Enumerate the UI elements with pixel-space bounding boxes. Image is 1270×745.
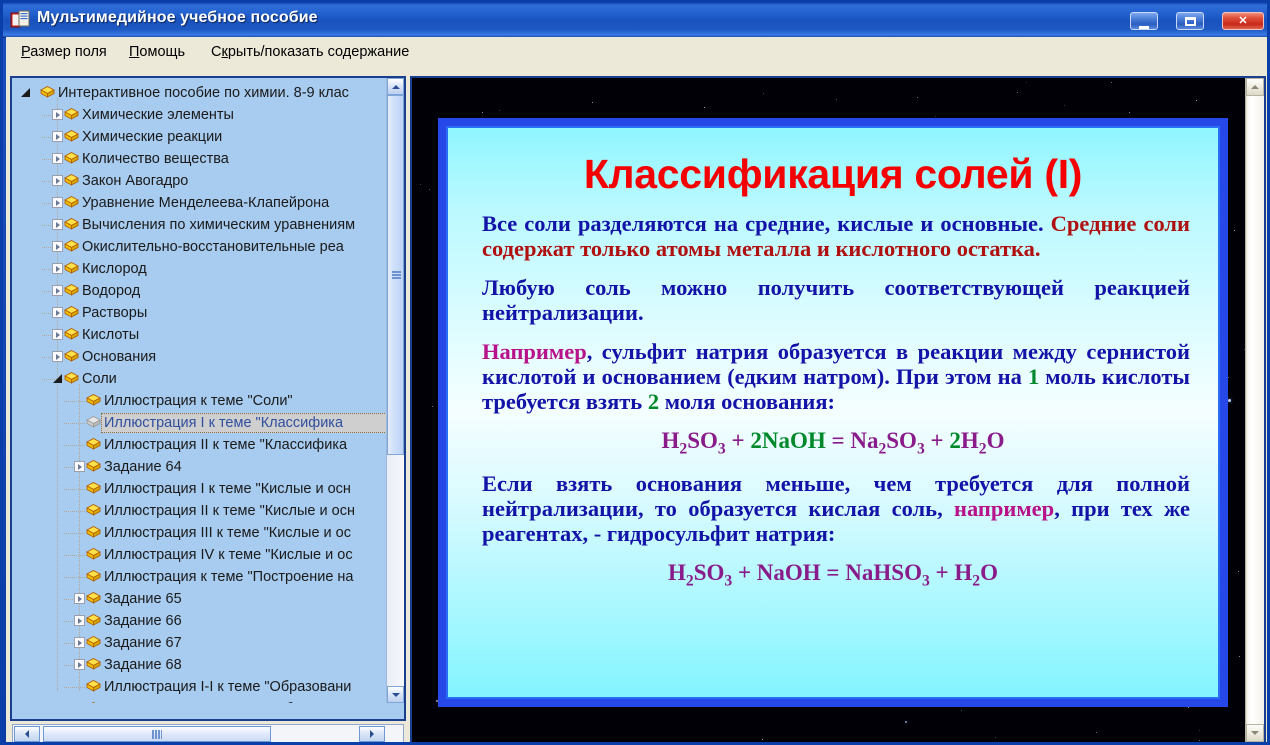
book-icon (64, 262, 79, 275)
tree-item-label: Кислород (82, 260, 147, 278)
book-icon (64, 372, 79, 385)
tree-item[interactable]: Иллюстрация IV к теме "Кислые и ос (12, 544, 391, 566)
tree-horizontal-scroll-thumb[interactable] (43, 726, 271, 742)
slide-vertical-scroll-track[interactable] (1246, 96, 1264, 724)
tree-item[interactable]: Химические реакции (12, 126, 391, 148)
star (1026, 82, 1027, 83)
star (961, 710, 962, 711)
application-window: Мультимедийное учебное пособие ✕ Размер … (0, 0, 1270, 745)
star (1199, 730, 1200, 731)
book-icon (86, 592, 101, 605)
tree-guide-line (64, 555, 86, 556)
text-run: 2 (750, 428, 762, 453)
tree-guide-line (64, 489, 86, 490)
tree-item-label: Закон Авогадро (82, 172, 188, 190)
tree-item-label: Иллюстрация к теме "Соли" (104, 392, 293, 410)
tree-view[interactable]: Интерактивное пособие по химии. 8-9 клас… (12, 78, 391, 703)
star (1228, 377, 1229, 378)
book-icon (64, 284, 79, 297)
tree-item-label: Количество вещества (82, 150, 229, 168)
tree-item-label: Иллюстрация I к теме "Классифика (104, 414, 343, 432)
book-icon (64, 108, 79, 121)
star (482, 112, 483, 113)
tree-item-label: Задание 65 (104, 590, 182, 608)
text-run: + H (930, 560, 973, 585)
text-run: + NaOH = NaHSO (732, 560, 922, 585)
tree-item[interactable]: Задание 67 (12, 632, 391, 654)
tree-expand-icon[interactable] (52, 263, 63, 274)
book-icon (64, 152, 79, 165)
tree-item-label: Соли (82, 370, 117, 388)
tree-scroll-down-button[interactable] (387, 686, 404, 703)
text-run: H (668, 560, 686, 585)
text-run: 2 (949, 428, 961, 453)
text-run: SO (886, 428, 917, 453)
star (429, 189, 430, 190)
tree-expand-icon[interactable] (52, 307, 63, 318)
tree-item[interactable]: Задание 66 (12, 610, 391, 632)
tree-item-label: Иллюстрация III к теме "Кислые и ос (104, 524, 351, 542)
menu-item-help[interactable]: Помощь (124, 42, 190, 62)
tree-item-label: Задание 64 (104, 458, 182, 476)
equation-partial-neutralization: H2SO3 + NaOH = NaHSO3 + H2O (468, 560, 1198, 591)
star (1188, 707, 1189, 708)
tree-guide-line (64, 445, 86, 446)
tree-vertical-scroll-thumb[interactable] (387, 95, 404, 455)
tree-expand-icon[interactable] (52, 219, 63, 230)
tree-guide-line (64, 687, 86, 688)
slide-viewer-panel: Классификация солей (I) Все соли разделя… (410, 76, 1266, 744)
tree-item-label: Иллюстрация IV к теме "Кислые и ос (104, 546, 353, 564)
tree-expand-icon[interactable] (52, 329, 63, 340)
close-button[interactable]: ✕ (1222, 12, 1264, 30)
text-run: O (980, 560, 998, 585)
book-app-icon (10, 10, 30, 30)
text-run: 3 (718, 441, 726, 458)
star (1199, 740, 1200, 741)
tree-item-label: Задание 66 (104, 612, 182, 630)
tree-item-label: Иллюстрация к теме "Построение на (104, 568, 354, 586)
text-run: например (954, 496, 1054, 521)
tree-item-label: Растворы (82, 304, 147, 322)
tree-item[interactable]: Растворы (12, 302, 391, 324)
tree-guide-line (64, 511, 86, 512)
star (1238, 571, 1239, 572)
text-run: SO (687, 428, 718, 453)
book-icon (86, 680, 101, 693)
star (1017, 92, 1018, 93)
book-icon (64, 328, 79, 341)
tree-item-label: Химические реакции (82, 128, 222, 146)
star (1196, 100, 1197, 101)
tree-item[interactable]: Кислоты (12, 324, 391, 346)
book-icon (86, 394, 101, 407)
book-icon (86, 658, 101, 671)
star (762, 739, 763, 740)
tree-item[interactable]: Химические элементы (12, 104, 391, 126)
window-title: Мультимедийное учебное пособие (37, 9, 318, 27)
book-icon (64, 240, 79, 253)
book-icon (86, 526, 101, 539)
tree-vertical-scrollbar[interactable] (386, 78, 404, 703)
book-icon (86, 702, 101, 703)
tree-item[interactable]: Интерактивное пособие по химии. 8-9 клас (12, 82, 391, 104)
tree-item[interactable]: Иллюстрация II к теме "Кислые и осн (12, 500, 391, 522)
text-run: SO (694, 560, 725, 585)
paragraph-neutralization: Любую соль можно получить соответствующе… (468, 275, 1198, 325)
tree-item-label: Иллюстрация II к теме "Кислые и осн (104, 502, 355, 520)
paragraph-example: Например, сульфит натрия образуется в ре… (468, 339, 1198, 414)
book-icon (64, 306, 79, 319)
book-icon (86, 614, 101, 627)
tree-expand-icon[interactable] (52, 109, 63, 120)
tree-scroll-up-button[interactable] (387, 78, 404, 95)
tree-expand-icon[interactable] (52, 153, 63, 164)
open-book-icon (86, 416, 101, 429)
text-run: Например (482, 339, 587, 364)
tree-item[interactable]: Закон Авогадро (12, 170, 391, 192)
text-run: NaOH (762, 428, 826, 453)
tree-item[interactable]: Иллюстрация I-II к теме "Образовани (12, 698, 391, 703)
contents-tree-panel: Интерактивное пособие по химии. 8-9 клас… (10, 76, 406, 721)
tree-item-selected[interactable]: Иллюстрация I к теме "Классифика (12, 412, 391, 434)
star (592, 102, 593, 103)
tree-expand-icon[interactable] (52, 241, 63, 252)
star (995, 737, 996, 738)
text-run: моля основания: (659, 389, 835, 414)
star (704, 107, 705, 108)
minimize-icon (1131, 13, 1157, 32)
tree-item[interactable]: Кислород (12, 258, 391, 280)
book-icon (64, 174, 79, 187)
tree-item-label: Задание 68 (104, 656, 182, 674)
text-run: Na (850, 428, 878, 453)
tree-horizontal-scrollbar[interactable] (12, 724, 404, 744)
star (1129, 112, 1130, 113)
tree-item-label: Задание 67 (104, 634, 182, 652)
slide-card: Классификация солей (I) Все соли разделя… (438, 118, 1228, 707)
text-run: 2 (972, 572, 980, 589)
book-icon (86, 504, 101, 517)
text-run: 1 (1028, 364, 1039, 389)
tree-item[interactable]: Иллюстрация к теме "Соли" (12, 390, 391, 412)
tree-item[interactable]: Иллюстрация к теме "Построение на (12, 566, 391, 588)
equation-full-neutralization: H2SO3 + 2NaOH = Na2SO3 + 2H2O (468, 428, 1198, 459)
slide-scroll-up-button[interactable] (1246, 78, 1264, 96)
tree-item-label: Кислоты (82, 326, 139, 344)
text-run: H (662, 428, 680, 453)
tree-expand-icon[interactable] (74, 461, 85, 472)
tree-item-label: Иллюстрация I к теме "Кислые и осн (104, 480, 351, 498)
tree-item-label: Окислительно-восстановительные реа (82, 238, 344, 256)
book-icon (86, 548, 101, 561)
tree-item[interactable]: Задание 65 (12, 588, 391, 610)
close-icon: ✕ (1223, 13, 1263, 29)
star (432, 406, 433, 407)
tree-guide-line (64, 423, 86, 424)
slide-vertical-scrollbar[interactable] (1245, 78, 1264, 742)
star (763, 93, 764, 94)
menu-item-toggle-contents[interactable]: Скрыть/показать содержание (206, 42, 414, 62)
tree-item[interactable]: Водород (12, 280, 391, 302)
slide-content: Классификация солей (I) Все соли разделя… (446, 126, 1220, 699)
tree-item[interactable]: Окислительно-восстановительные реа (12, 236, 391, 258)
tree-expand-icon[interactable] (74, 615, 85, 626)
star (905, 721, 907, 723)
slide-scroll-down-button[interactable] (1246, 724, 1264, 742)
tree-item-label: Уравнение Менделеева-Клапейрона (82, 194, 329, 212)
tree-expand-icon[interactable] (52, 175, 63, 186)
star (836, 99, 837, 100)
tree-item[interactable]: Вычисления по химическим уравнениям (12, 214, 391, 236)
minimize-button[interactable] (1130, 12, 1158, 30)
tree-item[interactable]: Иллюстрация I к теме "Кислые и осн (12, 478, 391, 500)
tree-scroll-left-button[interactable] (14, 726, 40, 742)
tree-item-label: Химические элементы (82, 106, 234, 124)
tree-collapse-icon[interactable] (52, 373, 63, 384)
tree-item-label: Основания (82, 348, 156, 366)
menu-bar: Размер поля Помощь Скрыть/показать содер… (6, 37, 1267, 67)
tree-guide-line (64, 401, 86, 402)
text-run: 2 (648, 389, 659, 414)
tree-item[interactable]: Задание 64 (12, 456, 391, 478)
book-icon (86, 438, 101, 451)
tree-item-label: Иллюстрация I-I к теме "Образовани (104, 678, 351, 696)
tree-item-label: Иллюстрация II к теме "Классифика (104, 436, 347, 454)
text-run: 2 (686, 572, 694, 589)
text-run: H (961, 428, 979, 453)
slide-title: Классификация солей (I) (468, 152, 1198, 197)
book-icon (40, 86, 55, 99)
star (1228, 399, 1231, 402)
tree-item-label: Иллюстрация I-II к теме "Образовани (104, 700, 355, 703)
tree-item[interactable]: Иллюстрация III к теме "Кислые и ос (12, 522, 391, 544)
paragraph-acid-salt: Если взять основания меньше, чем требует… (468, 471, 1198, 546)
tree-expand-icon[interactable] (52, 285, 63, 296)
star (1064, 105, 1065, 106)
text-run: 3 (917, 441, 925, 458)
star (1239, 656, 1240, 657)
tree-expand-icon[interactable] (52, 197, 63, 208)
tree-item[interactable]: Иллюстрация I-I к теме "Образовани (12, 676, 391, 698)
star (1111, 82, 1112, 83)
book-icon (86, 570, 101, 583)
tree-expand-icon[interactable] (52, 351, 63, 362)
text-run: 2 (979, 441, 987, 458)
tree-item[interactable]: Уравнение Менделеева-Клапейрона (12, 192, 391, 214)
tree-item[interactable]: Задание 68 (12, 654, 391, 676)
text-run: Все соли разделяются на средние, кислые … (482, 211, 1051, 236)
tree-item-label: Вычисления по химическим уравнениям (82, 216, 355, 234)
tree-scroll-right-button[interactable] (359, 726, 385, 742)
book-icon (64, 130, 79, 143)
tree-expand-icon[interactable] (74, 593, 85, 604)
text-run: + (925, 428, 950, 453)
menu-item-field-size[interactable]: Размер поля (16, 42, 112, 62)
book-icon (64, 218, 79, 231)
tree-item-label: Интерактивное пособие по химии. 8-9 клас (58, 84, 349, 102)
text-run: + (726, 428, 751, 453)
maximize-icon (1177, 13, 1203, 29)
tree-item[interactable]: Соли (12, 368, 391, 390)
book-icon (64, 196, 79, 209)
text-run: 3 (922, 572, 930, 589)
title-bar: Мультимедийное учебное пособие ✕ (3, 3, 1270, 38)
paragraph-definition: Все соли разделяются на средние, кислые … (468, 211, 1198, 261)
tree-item[interactable]: Иллюстрация II к теме "Классифика (12, 434, 391, 456)
text-run: = (826, 428, 851, 453)
tree-expand-icon[interactable] (74, 637, 85, 648)
text-run: O (987, 428, 1005, 453)
book-icon (86, 460, 101, 473)
client-area: Интерактивное пособие по химии. 8-9 клас… (6, 66, 1270, 745)
tree-item[interactable]: Основания (12, 346, 391, 368)
tree-item[interactable]: Количество вещества (12, 148, 391, 170)
tree-expand-icon[interactable] (74, 659, 85, 670)
star (499, 110, 500, 111)
tree-guide-line (64, 533, 86, 534)
tree-expand-icon[interactable] (52, 131, 63, 142)
star (420, 184, 421, 185)
star (1096, 732, 1097, 733)
tree-item-label: Водород (82, 282, 140, 300)
book-icon (64, 350, 79, 363)
text-run: Любую соль можно получить соответствующе… (482, 275, 1190, 325)
star (1234, 230, 1235, 231)
tree-guide-line (64, 577, 86, 578)
book-icon (86, 636, 101, 649)
maximize-button[interactable] (1176, 12, 1204, 30)
tree-collapse-icon[interactable] (20, 87, 31, 98)
book-icon (86, 482, 101, 495)
star (917, 97, 918, 98)
star (935, 116, 936, 117)
